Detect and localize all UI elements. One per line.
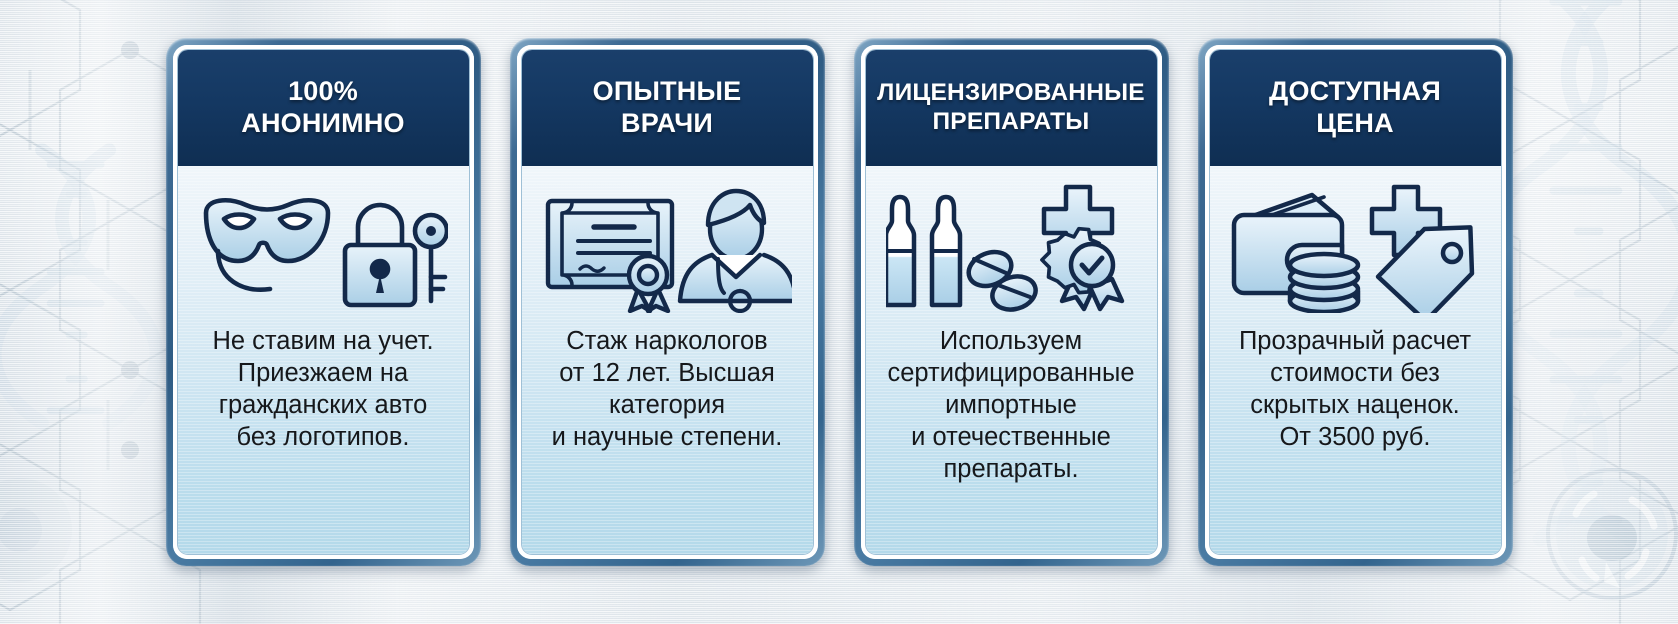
card-text-price: Прозрачный расчет стоимости без скрытых …	[1227, 326, 1483, 554]
card-text-line: От 3500 руб.	[1239, 422, 1471, 454]
card-title-line: ВРАЧИ	[593, 108, 742, 140]
feature-card-anonymity[interactable]: 100% АНОНИМНО	[166, 38, 481, 566]
card-icons-anonymity	[178, 166, 469, 326]
card-body: Используем сертифицированные импортные и…	[866, 166, 1157, 554]
card-text-anonymity: Не ставим на учет. Приезжаем на гражданс…	[200, 326, 445, 554]
card-text-line: без логотипов.	[212, 422, 433, 454]
coins-icon	[1290, 254, 1358, 312]
card-icons-price	[1210, 166, 1501, 326]
card-icons-doctors	[522, 166, 813, 326]
padlock-icon	[345, 205, 415, 305]
card-text-line: и научные степени.	[552, 422, 783, 454]
promo-banner: 100% АНОНИМНО	[0, 0, 1678, 624]
feature-card-affordable-price[interactable]: ДОСТУПНАЯ ЦЕНА	[1198, 38, 1513, 566]
card-text-line: скрытых наценок.	[1239, 390, 1471, 422]
card-text-line: категория	[552, 390, 783, 422]
card-inner-frame: ЛИЦЕНЗИРОВАННЫЕ ПРЕПАРАТЫ	[861, 45, 1162, 559]
card-text-drugs: Используем сертифицированные импортные и…	[875, 326, 1146, 554]
card-title-line: 100%	[241, 76, 405, 108]
card-text-line: Стаж наркологов	[552, 326, 783, 358]
card-face: ДОСТУПНАЯ ЦЕНА	[1209, 49, 1502, 555]
ribbon-seal	[629, 256, 668, 311]
card-text-line: препараты.	[887, 454, 1134, 486]
card-title-affordable-price: ДОСТУПНАЯ ЦЕНА	[1210, 50, 1501, 166]
card-title-line: АНОНИМНО	[241, 108, 405, 140]
card-text-line: и отечественные	[887, 422, 1134, 454]
card-title-anonymity: 100% АНОНИМНО	[178, 50, 469, 166]
card-face: ОПЫТНЫЕ ВРАЧИ	[521, 49, 814, 555]
card-text-doctors: Стаж наркологов от 12 лет. Высшая катего…	[540, 326, 795, 554]
card-text-line: гражданских авто	[212, 390, 433, 422]
feature-card-experienced-doctors[interactable]: ОПЫТНЫЕ ВРАЧИ	[510, 38, 825, 566]
card-title-experienced-doctors: ОПЫТНЫЕ ВРАЧИ	[522, 50, 813, 166]
card-inner-frame: 100% АНОНИМНО	[173, 45, 474, 559]
card-body: Стаж наркологов от 12 лет. Высшая катего…	[522, 166, 813, 554]
card-text-line: импортные	[887, 390, 1134, 422]
ampoule-icon	[886, 197, 914, 305]
card-inner-frame: ОПЫТНЫЕ ВРАЧИ	[517, 45, 818, 559]
card-title-licensed-drugs: ЛИЦЕНЗИРОВАННЫЕ ПРЕПАРАТЫ	[866, 50, 1157, 166]
card-body: Не ставим на учет. Приезжаем на гражданс…	[178, 166, 469, 554]
card-face: 100% АНОНИМНО	[177, 49, 470, 555]
card-title-line: ЛИЦЕНЗИРОВАННЫЕ	[877, 79, 1145, 108]
card-text-line: сертифицированные	[887, 358, 1134, 390]
card-text-line: от 12 лет. Высшая	[552, 358, 783, 390]
card-title-line: ПРЕПАРАТЫ	[877, 108, 1145, 137]
doctor-icon	[680, 191, 792, 311]
card-body: Прозрачный расчет стоимости без скрытых …	[1210, 166, 1501, 554]
card-text-line: Не ставим на учет.	[212, 326, 433, 358]
card-title-line: ОПЫТНЫЕ	[593, 76, 742, 108]
price-tag-icon	[1376, 227, 1473, 313]
card-title-line: ДОСТУПНАЯ	[1269, 76, 1441, 108]
card-title-line: ЦЕНА	[1269, 108, 1441, 140]
card-face: ЛИЦЕНЗИРОВАННЫЕ ПРЕПАРАТЫ	[865, 49, 1158, 555]
ampoule-icon	[932, 197, 960, 305]
card-text-line: Приезжаем на	[212, 358, 433, 390]
feature-card-licensed-drugs[interactable]: ЛИЦЕНЗИРОВАННЫЕ ПРЕПАРАТЫ	[854, 38, 1169, 566]
card-text-line: Используем	[887, 326, 1134, 358]
key-icon	[415, 215, 447, 301]
mask-icon	[206, 200, 328, 289]
quality-badge-icon	[1042, 229, 1122, 309]
card-icons-drugs	[866, 166, 1157, 326]
card-inner-frame: ДОСТУПНАЯ ЦЕНА	[1205, 45, 1506, 559]
certificate-icon	[548, 201, 672, 311]
card-text-line: Прозрачный расчет	[1239, 326, 1471, 358]
pills-icon	[964, 246, 1040, 313]
feature-card-list: 100% АНОНИМНО	[0, 0, 1678, 624]
card-text-line: стоимости без	[1239, 358, 1471, 390]
